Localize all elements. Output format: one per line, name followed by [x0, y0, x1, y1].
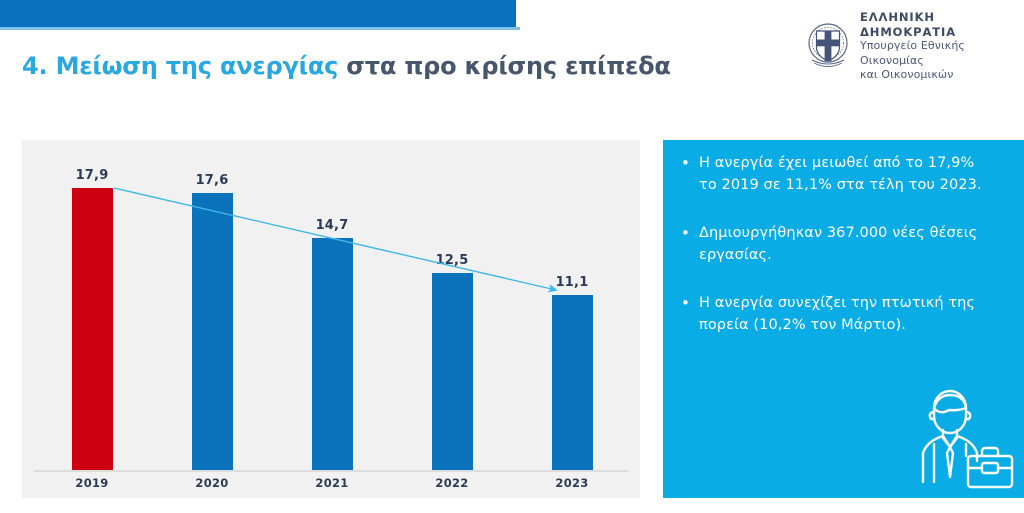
header-accent-underline: [0, 27, 520, 30]
bar-value-2019: 17,9: [62, 168, 122, 183]
bullet-dot-icon: •: [681, 222, 699, 244]
bar-value-2020: 17,6: [182, 173, 242, 188]
bullet-text-1: Η ανεργία έχει μειωθεί από το 17,9% το 2…: [699, 152, 991, 196]
bar-2022: [432, 273, 473, 470]
bullet-dot-icon: •: [681, 152, 699, 174]
businessman-briefcase-icon: [898, 378, 1018, 496]
ministry-logo-text: ΕΛΛΗΝΙΚΗ ΔΗΜΟΚΡΑΤΙΑ Υπουργείο Εθνικής Οι…: [860, 10, 1024, 82]
list-item: • Η ανεργία συνεχίζει την πτωτική της πο…: [681, 292, 1006, 336]
bar-category-2019: 2019: [57, 476, 127, 490]
bar-value-2021: 14,7: [302, 218, 362, 233]
slide-root: 4. Μείωση της ανεργίας στα προ κρίσης επ…: [0, 0, 1024, 513]
header-accent-bar: [0, 0, 516, 27]
page-title-rest: στα προ κρίσης επίπεδα: [338, 52, 671, 80]
bar-2021: [312, 238, 353, 470]
bar-category-2021: 2021: [297, 476, 367, 490]
bar-value-2023: 11,1: [542, 275, 602, 290]
bar-category-2020: 2020: [177, 476, 247, 490]
chart-plot-area: 17,9 17,6 14,7 12,5 11,1 2019 2020 2021 …: [22, 140, 640, 498]
bar-2019: [72, 188, 113, 470]
logo-line-ministry-cont: και Οικονομικών: [860, 68, 1024, 82]
bullet-dot-icon: •: [681, 292, 699, 314]
bullet-list: • Η ανεργία έχει μειωθεί από το 17,9% το…: [681, 152, 1006, 362]
page-title-accent: 4. Μείωση της ανεργίας: [22, 52, 338, 80]
key-findings-panel: • Η ανεργία έχει μειωθεί από το 17,9% το…: [663, 140, 1024, 498]
unemployment-bar-chart: 17,9 17,6 14,7 12,5 11,1 2019 2020 2021 …: [22, 140, 640, 498]
logo-line-republic: ΕΛΛΗΝΙΚΗ ΔΗΜΟΚΡΑΤΙΑ: [860, 10, 1024, 39]
list-item: • Η ανεργία έχει μειωθεί από το 17,9% το…: [681, 152, 1006, 196]
bar-category-2022: 2022: [417, 476, 487, 490]
greek-coat-of-arms-icon: [806, 22, 850, 70]
bullet-text-2: Δημιουργήθηκαν 367.000 νέες θέσεις εργασ…: [699, 222, 991, 266]
logo-line-ministry: Υπουργείο Εθνικής Οικονομίας: [860, 39, 1024, 67]
bullet-text-3: Η ανεργία συνεχίζει την πτωτική της πορε…: [699, 292, 991, 336]
list-item: • Δημιουργήθηκαν 367.000 νέες θέσεις εργ…: [681, 222, 1006, 266]
ministry-logo: ΕΛΛΗΝΙΚΗ ΔΗΜΟΚΡΑΤΙΑ Υπουργείο Εθνικής Οι…: [806, 10, 1024, 82]
chart-axis-line: [34, 470, 628, 472]
bar-2020: [192, 193, 233, 470]
bar-value-2022: 12,5: [422, 253, 482, 268]
bar-category-2023: 2023: [537, 476, 607, 490]
bar-2023: [552, 295, 593, 470]
page-title: 4. Μείωση της ανεργίας στα προ κρίσης επ…: [22, 52, 671, 80]
